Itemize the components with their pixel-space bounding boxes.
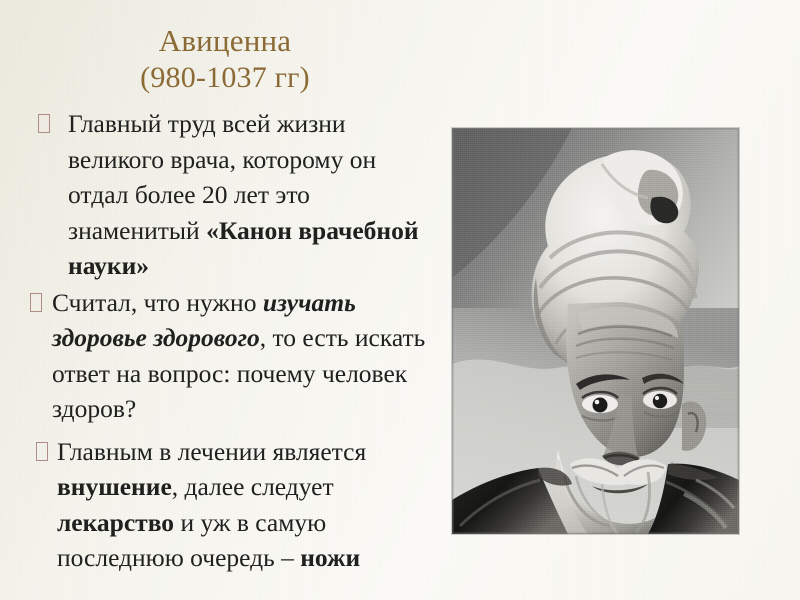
bullet-2-segment-regular-start: Считал, что нужно (52, 288, 263, 317)
bullet-3-segment-regular-2: , далее следует (172, 472, 334, 501)
list-item: Считал, что нужно изучать здоровье здоро… (22, 285, 442, 427)
bullet-3-segment-bold-1: внушение (57, 472, 172, 501)
title-line-dates: (980-1037 гг) (20, 59, 430, 96)
list-item: Главным в лечении является внушение, дал… (22, 434, 442, 576)
hollow-square-bullet-icon (36, 442, 48, 461)
list-item-text: Главный труд всей жизни великого врача, … (57, 106, 442, 284)
hollow-square-bullet-icon (38, 114, 50, 133)
bullet-3-segment-regular-1: Главным в лечении является (57, 437, 366, 466)
page-title: Авиценна (980-1037 гг) (20, 22, 430, 96)
body-text-block: Главный труд всей жизни великого врача, … (22, 106, 442, 576)
avicenna-portrait-image (452, 128, 739, 534)
slide-canvas: Авиценна (980-1037 гг) Главный труд всей… (0, 0, 800, 600)
title-line-name: Авиценна (20, 22, 430, 59)
list-item-text: Главным в лечении является внушение, дал… (55, 434, 442, 576)
list-item: Главный труд всей жизни великого врача, … (22, 106, 442, 284)
list-item-text: Считал, что нужно изучать здоровье здоро… (49, 285, 442, 427)
bullet-3-segment-bold-3: ножи (300, 543, 360, 572)
hollow-square-bullet-icon (30, 293, 42, 312)
bullet-3-segment-bold-2: лекарство (57, 508, 174, 537)
portrait-illustration (452, 128, 739, 534)
